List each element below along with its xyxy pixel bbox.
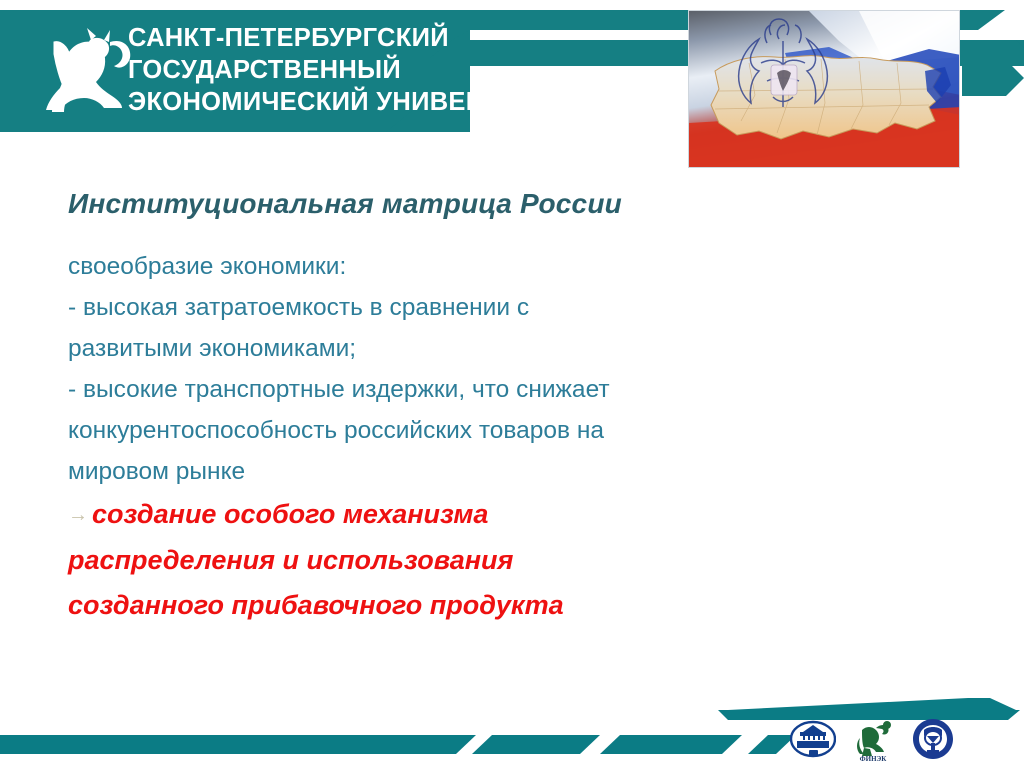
russia-map-flag-coat-of-arms-image [688, 10, 960, 168]
university-name-line-1: САНКТ-ПЕТЕРБУРГСКИЙ [128, 22, 608, 54]
svg-text:ФИНЭК: ФИНЭК [860, 755, 888, 762]
page-title: Институциональная матрица России [68, 188, 768, 220]
conclusion-line: созданного прибавочного продукта [68, 583, 828, 628]
body-line: - высокая затратоемкость в сравнении с [68, 287, 788, 328]
university-name-line-3: ЭКОНОМИЧЕСКИЙ УНИВЕРСИТЕТ [128, 86, 608, 118]
unecon-logo [910, 716, 956, 762]
griffin-sphinx-icon [30, 18, 140, 123]
university-name: САНКТ-ПЕТЕРБУРГСКИЙ ГОСУДАРСТВЕННЫЙ ЭКОН… [128, 22, 608, 118]
body-line: развитыми экономиками; [68, 328, 788, 369]
slide-canvas: САНКТ-ПЕТЕРБУРГСКИЙ ГОСУДАРСТВЕННЫЙ ЭКОН… [0, 0, 1024, 767]
conclusion-line: распределения и использования [68, 538, 828, 583]
university-name-line-2: ГОСУДАРСТВЕННЫЙ [128, 54, 608, 86]
body-line: - высокие транспортные издержки, что сни… [68, 369, 788, 410]
body-text-block: своеобразие экономики: - высокая затрато… [68, 246, 788, 492]
body-line: своеобразие экономики: [68, 246, 788, 287]
arrow-right-icon: → [68, 504, 92, 526]
body-line: мировом рынке [68, 451, 788, 492]
conclusion-block: →создание особого механизма распределени… [68, 492, 828, 628]
finec-logo: ФИНЭК [850, 716, 896, 762]
inzhekon-logo [790, 716, 836, 762]
conclusion-line: →создание особого механизма [68, 492, 828, 538]
body-line: конкурентоспособность российских товаров… [68, 410, 788, 451]
conclusion-line-text: создание особого механизма [92, 499, 488, 529]
footer-logos: ФИНЭК [790, 714, 960, 762]
